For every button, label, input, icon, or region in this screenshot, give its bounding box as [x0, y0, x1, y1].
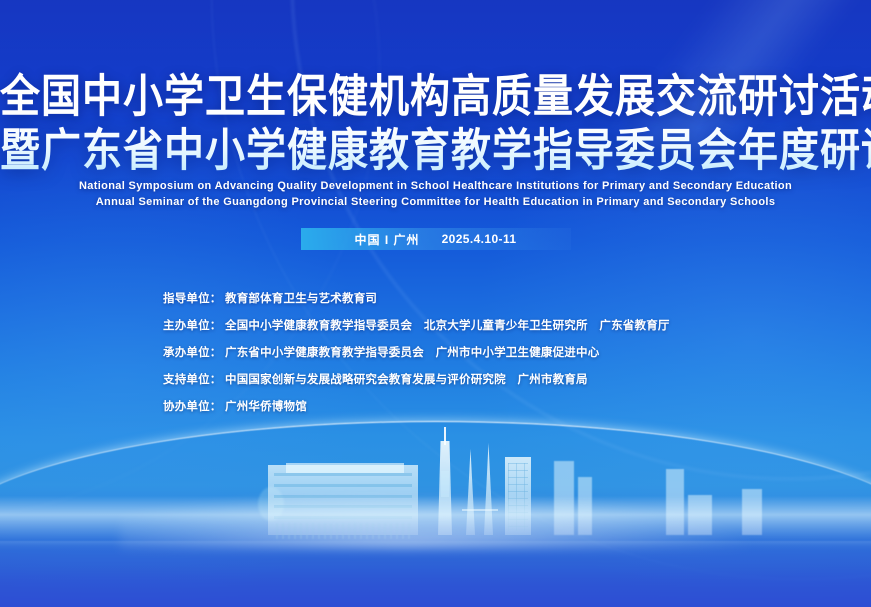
organization-label: 承办单位：: [163, 344, 225, 360]
organization-label: 支持单位：: [163, 371, 225, 387]
horizon-arc: [0, 421, 871, 541]
organization-list: 指导单位： 教育部体育卫生与艺术教育司 主办单位： 全国中小学健康教育教学指导委…: [163, 290, 670, 425]
tower-slim-1: [554, 461, 574, 535]
event-location: 中国 I 广州: [355, 231, 420, 248]
gridded-office-tower: [505, 457, 531, 535]
tower-slim-2: [578, 477, 592, 535]
organization-label: 指导单位：: [163, 290, 225, 306]
organization-value: 广东省中小学健康教育教学指导委员会 广州市中小学卫生健康促进中心: [225, 344, 599, 360]
organization-row-host: 主办单位： 全国中小学健康教育教学指导委员会 北京大学儿童青少年卫生研究所 广东…: [163, 317, 670, 333]
organization-row-coorganizer: 协办单位： 广州华侨博物馆: [163, 398, 670, 414]
conference-poster: 全国中小学卫生保健机构高质量发展交流研讨活动 暨广东省中小学健康教育教学指导委员…: [0, 0, 871, 607]
organization-label: 主办单位：: [163, 317, 225, 333]
organization-value: 教育部体育卫生与艺术教育司: [225, 290, 377, 306]
organization-label: 协办单位：: [163, 398, 225, 414]
school-window-rows: [274, 473, 412, 519]
organization-row-organizer: 承办单位： 广东省中小学健康教育教学指导委员会 广州市中小学卫生健康促进中心: [163, 344, 670, 360]
canton-tower-body: [438, 441, 452, 535]
organization-value: 全国中小学健康教育教学指导委员会 北京大学儿童青少年卫生研究所 广东省教育厅: [225, 317, 670, 333]
organization-row-guidance: 指导单位： 教育部体育卫生与艺术教育司: [163, 290, 670, 306]
organization-value: 广州华侨博物馆: [225, 398, 307, 414]
english-subtitle: National Symposium on Advancing Quality …: [0, 178, 871, 210]
city-skyline-illustration: [0, 407, 871, 607]
organization-row-support: 支持单位： 中国国家创新与发展战略研究会教育发展与评价研究院 广州市教育局: [163, 371, 670, 387]
ground-haze: [120, 493, 751, 549]
crowd-silhouette: [276, 523, 412, 539]
canton-tower-mast: [444, 427, 446, 445]
tower-block-2: [688, 495, 712, 535]
english-subtitle-line-2: Annual Seminar of the Guangdong Provinci…: [0, 194, 871, 210]
canton-tower-icon: [432, 427, 458, 535]
organization-value: 中国国家创新与发展战略研究会教育发展与评价研究院 广州市教育局: [225, 371, 588, 387]
bottom-fade: [0, 515, 871, 607]
event-meta-badge: 中国 I 广州 2025.4.10-11: [301, 228, 571, 250]
spire-right: [484, 443, 493, 535]
canton-tower-waist: [441, 471, 449, 497]
title-line-secondary: 暨广东省中小学健康教育教学指导委员会年度研讨活动: [0, 125, 871, 177]
school-building-roof: [286, 463, 404, 473]
spire-connector: [462, 509, 498, 511]
title-line-primary: 全国中小学卫生保健机构高质量发展交流研讨活动: [0, 71, 871, 123]
school-building: [268, 465, 418, 535]
spire-left: [466, 449, 475, 535]
title-block: 全国中小学卫生保健机构高质量发展交流研讨活动 暨广东省中小学健康教育教学指导委员…: [0, 74, 871, 174]
event-date: 2025.4.10-11: [442, 232, 517, 246]
tree-silhouette: [258, 487, 284, 521]
tower-block-1: [666, 469, 684, 535]
english-subtitle-line-1: National Symposium on Advancing Quality …: [0, 178, 871, 194]
event-meta-row: 中国 I 广州 2025.4.10-11: [0, 228, 871, 250]
tower-block-3: [742, 489, 762, 535]
